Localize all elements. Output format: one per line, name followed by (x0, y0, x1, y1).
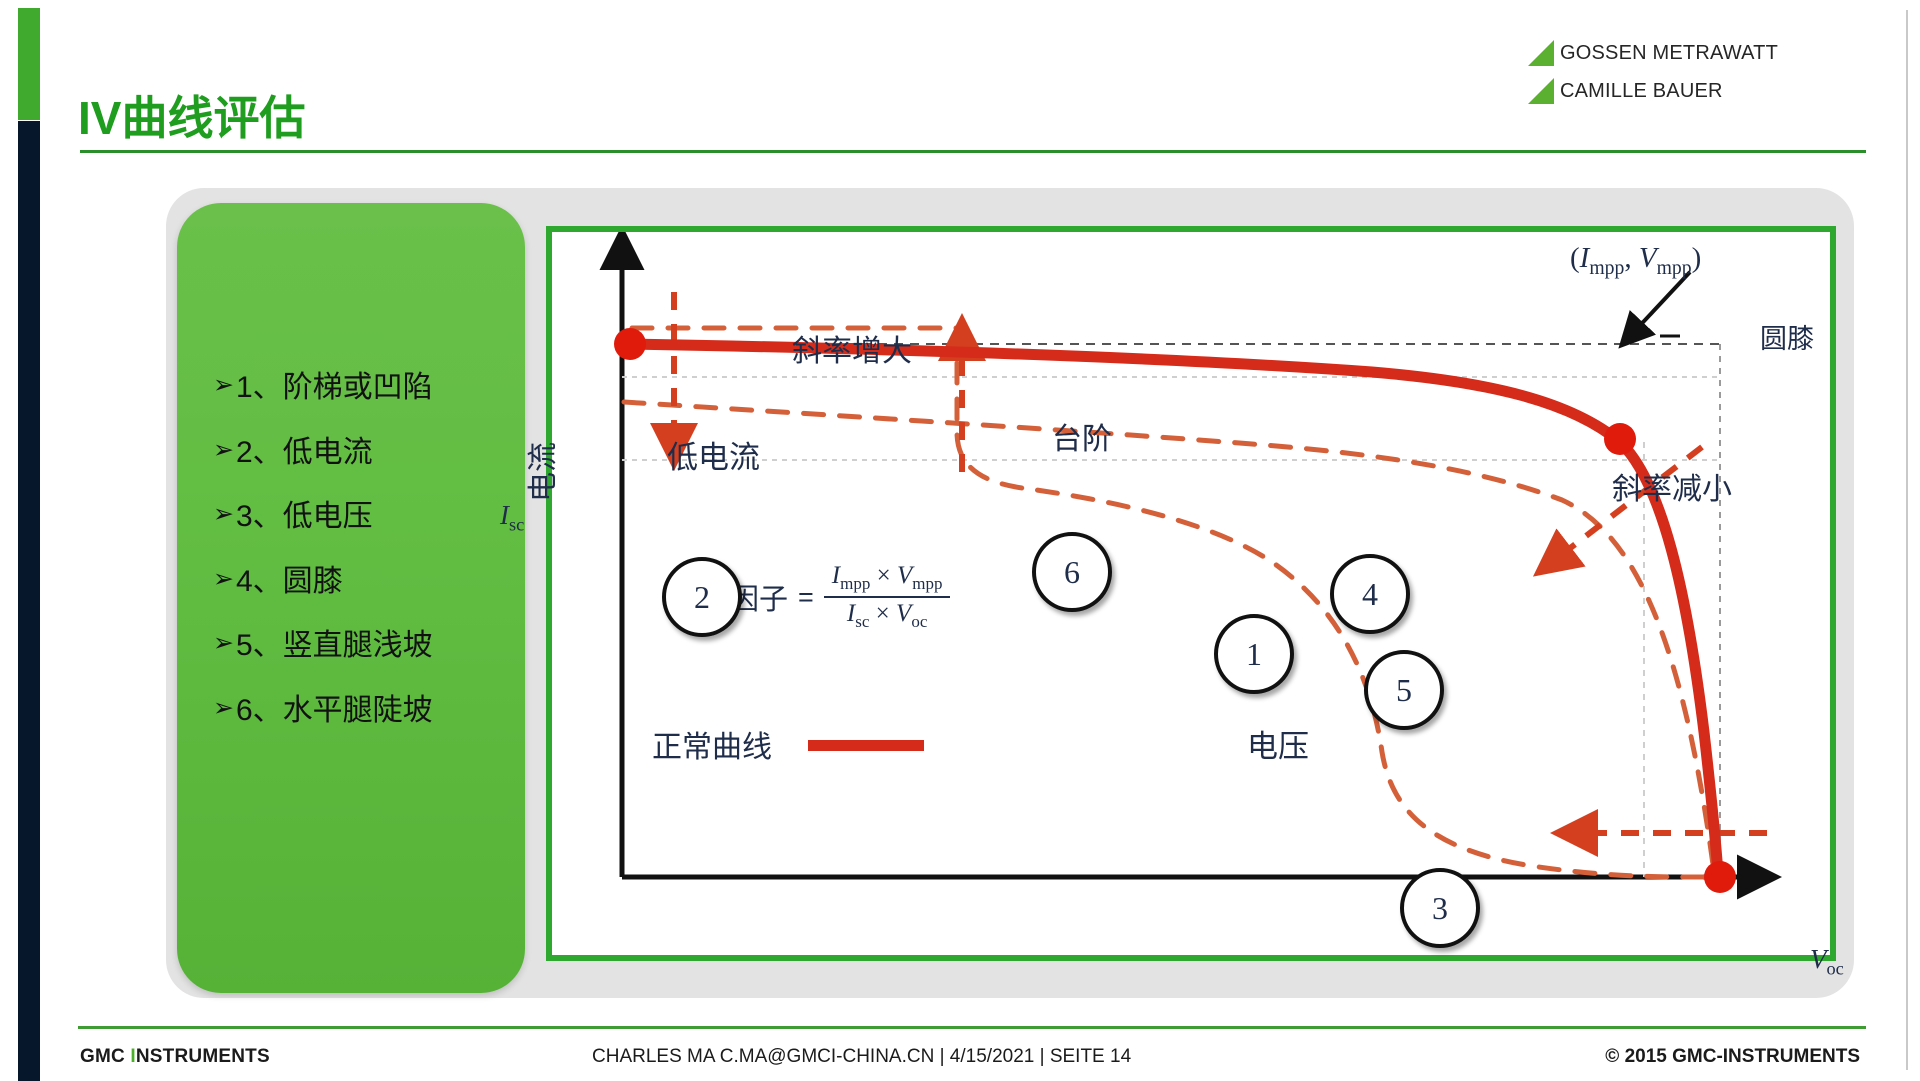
annotation-slope-increase: 斜率增大 (792, 326, 912, 370)
callout-badge-1[interactable]: 1 (1214, 614, 1294, 694)
mpp-callout-arrow (1632, 272, 1690, 334)
triangle-logo-icon (1528, 40, 1554, 66)
accent-bar-navy (18, 121, 40, 1081)
marker-isc (614, 328, 646, 360)
list-item-label: 3、低电压 (236, 500, 373, 535)
brand-gossen-label: GOSSEN METRAWATT (1560, 42, 1778, 65)
brand-row-camille: CAMILLE BAUER (1528, 72, 1858, 110)
list-item-label: 2、低电流 (236, 436, 373, 471)
list-item: ➢ 5、竖直腿浅坡 (213, 629, 513, 664)
iv-chart: Isc Voc (Impp, Vmpp) 圆膝 低电流 电流 电压 斜率增大 台… (546, 226, 1836, 961)
footer-meta: CHARLES MA C.MA@GMCI-CHINA.CN | 4/15/202… (592, 1046, 1131, 1068)
list-item-label: 6、水平腿陡坡 (236, 694, 433, 729)
annotation-low-current: 低电流 (667, 432, 760, 477)
bullet-marker-icon: ➢ (213, 694, 234, 723)
annotation-slope-decrease: 斜率减小 (1612, 464, 1732, 508)
y-axis-label: 电流 (518, 442, 562, 502)
fill-factor-fraction: Impp × Vmpp Isc × Voc (824, 562, 951, 632)
title-underline (80, 150, 1866, 153)
bullet-card: ➢ 1、阶梯或凹陷 ➢ 2、低电流 ➢ 3、低电压 ➢ 4、圆膝 ➢ 5、竖直腿… (177, 203, 525, 993)
fill-factor-equals: = (798, 582, 814, 613)
callout-badge-3[interactable]: 3 (1400, 868, 1480, 948)
brand-row-gossen: GOSSEN METRAWATT (1528, 34, 1858, 72)
axis-label-voc: Voc (1810, 944, 1844, 979)
list-item: ➢ 4、圆膝 (213, 565, 513, 600)
list-item-label: 5、竖直腿浅坡 (236, 629, 433, 664)
axis-label-isc: Isc (500, 500, 524, 535)
footer-copyright: © 2015 GMC-INSTRUMENTS (1605, 1046, 1860, 1068)
page-title: IV曲线评估 (78, 82, 305, 148)
list-item: ➢ 1、阶梯或凹陷 (213, 371, 513, 406)
marker-mpp (1604, 423, 1636, 455)
brand-camille-label: CAMILLE BAUER (1560, 80, 1723, 103)
annotation-round-knee: 圆膝 (1760, 317, 1814, 356)
x-axis-label: 电压 (1247, 721, 1309, 766)
slide-root: IV曲线评估 GOSSEN METRAWATT CAMILLE BAUER ➢ … (0, 0, 1920, 1080)
bullet-marker-icon: ➢ (213, 629, 234, 658)
list-item-label: 4、圆膝 (236, 565, 343, 600)
legend-label: 正常曲线 (652, 722, 772, 766)
callout-badge-4[interactable]: 4 (1330, 554, 1410, 634)
list-item: ➢ 2、低电流 (213, 436, 513, 471)
list-item-label: 1、阶梯或凹陷 (236, 371, 433, 406)
bullet-marker-icon: ➢ (213, 565, 234, 594)
right-edge-rule (1906, 10, 1908, 1070)
legend-color-swatch (808, 740, 924, 751)
fill-factor-numerator: Impp × Vmpp (824, 562, 951, 596)
bullet-list: ➢ 1、阶梯或凹陷 ➢ 2、低电流 ➢ 3、低电压 ➢ 4、圆膝 ➢ 5、竖直腿… (213, 371, 513, 758)
callout-badge-6[interactable]: 6 (1032, 532, 1112, 612)
footer-logo-text: GMC INSTRUMENTS (80, 1046, 270, 1068)
fill-factor-denominator: Isc × Voc (824, 596, 951, 632)
brand-logos: GOSSEN METRAWATT CAMILLE BAUER (1528, 34, 1858, 110)
triangle-logo-icon (1528, 78, 1554, 104)
bullet-marker-icon: ➢ (213, 500, 234, 529)
bullet-marker-icon: ➢ (213, 371, 234, 400)
callout-badge-5[interactable]: 5 (1364, 650, 1444, 730)
bullet-marker-icon: ➢ (213, 436, 234, 465)
accent-bar-green (18, 8, 40, 120)
fault-curve-low-current (624, 402, 1714, 872)
annotation-step: 台阶 (1052, 414, 1112, 458)
mpp-callout-label: (Impp, Vmpp) (1570, 242, 1701, 280)
list-item: ➢ 6、水平腿陡坡 (213, 694, 513, 729)
footer-rule (78, 1026, 1866, 1029)
callout-badge-2[interactable]: 2 (662, 557, 742, 637)
list-item: ➢ 3、低电压 (213, 500, 513, 535)
marker-voc (1704, 861, 1736, 893)
